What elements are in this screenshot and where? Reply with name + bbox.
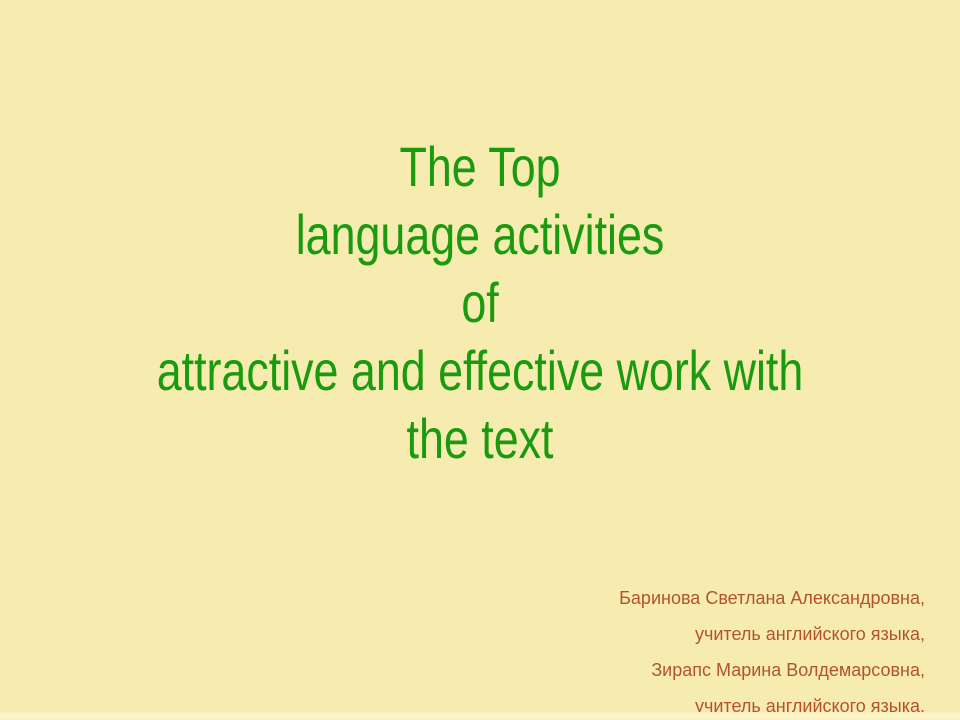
presentation-slide: The Top language activities of attractiv… [0,0,960,720]
title-line-5: the text [120,405,840,473]
title-line-3: of [120,269,840,337]
title-line-2: language activities [120,201,840,269]
author-role-2: учитель английского языка, [305,688,925,720]
author-name-2: Зирапс Марина Волдемарсовна, [305,652,925,688]
author-credits: Баринова Светлана Александровна, учитель… [305,580,925,720]
author-name-1: Баринова Светлана Александровна, [305,580,925,616]
slide-title: The Top language activities of attractiv… [30,133,930,473]
title-line-4: attractive and effective work with [120,337,840,405]
author-role-1: учитель английского языка, [305,616,925,652]
title-line-1: The Top [120,133,840,201]
